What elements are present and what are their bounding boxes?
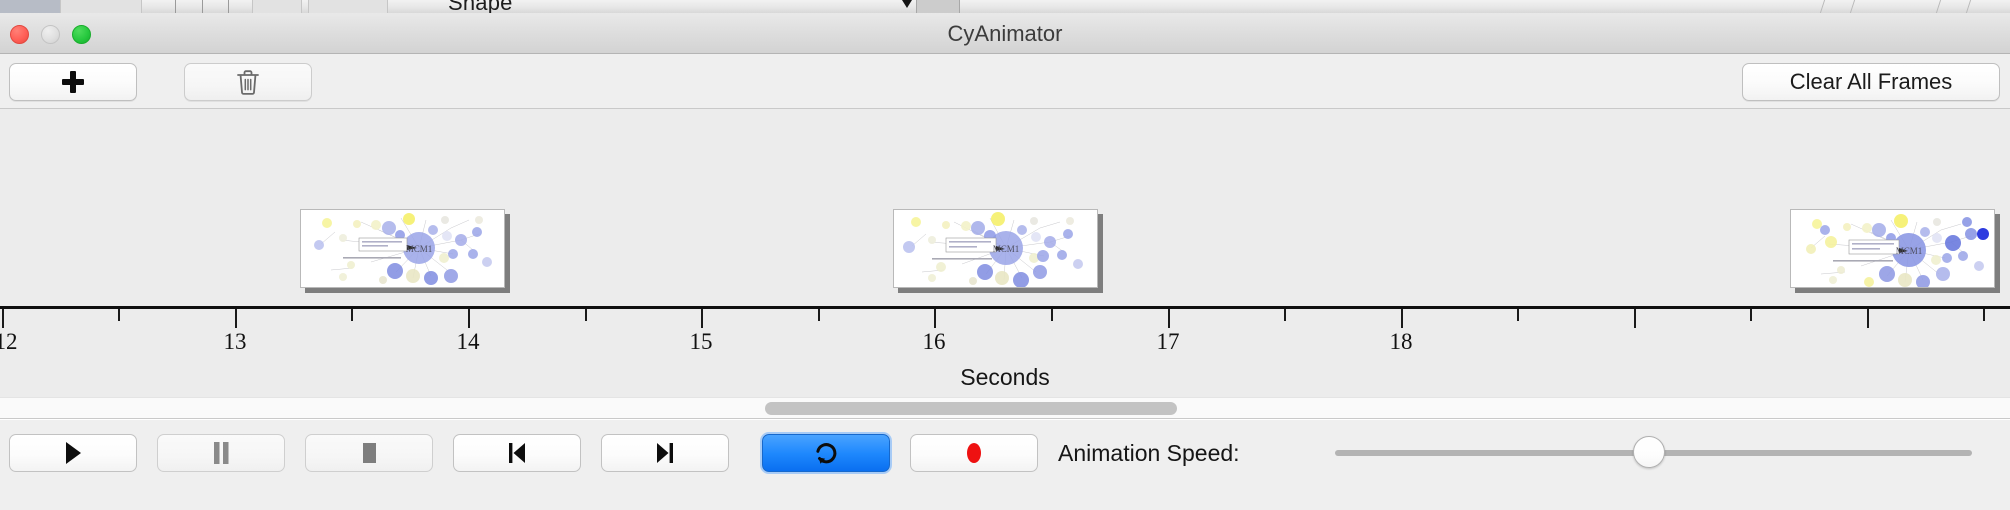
axis-tick-major [235,309,237,328]
play-icon [62,440,84,466]
skip-end-icon [652,440,678,466]
axis-tick-minor [585,309,587,321]
trash-icon [235,68,261,96]
bg-slash [1936,0,1941,13]
network-graph-thumbnail: MCM1 [1791,210,1994,287]
timeline-frame[interactable]: MCM1 [1790,209,2000,291]
timeline-frame[interactable]: MCM1 [300,209,510,291]
timeline-panel[interactable]: MCM1 [0,109,2010,419]
axis-tick-minor [1284,309,1286,321]
bg-panel [60,0,142,13]
network-graph-thumbnail: MCM1 [894,210,1097,287]
skip-end-button[interactable] [601,434,729,472]
plus-icon [62,71,84,93]
toolbar: Clear All Frames [0,54,2010,109]
record-button[interactable] [910,434,1038,472]
cyanimator-window: Shape CyAnimator Clear A [0,0,2010,510]
axis-tick-major [1634,309,1636,328]
frame-thumbnail: MCM1 [893,209,1098,288]
axis-title: Seconds [0,364,2010,391]
bg-scroll-thumb [916,0,960,13]
clear-all-frames-button[interactable]: Clear All Frames [1742,63,2000,101]
svg-text:MCM1: MCM1 [993,244,1020,254]
bg-tick [175,0,176,13]
loop-icon [813,439,839,467]
scrollbar-thumb[interactable] [765,402,1177,415]
maximize-button[interactable] [72,25,91,44]
axis-tick-major [1867,309,1869,328]
close-button[interactable] [10,25,29,44]
axis-tick-major [2,309,4,328]
pause-button[interactable] [157,434,285,472]
timeline-frame[interactable]: MCM1 [893,209,1103,291]
axis-tick-minor [118,309,120,321]
bg-slash [1820,0,1825,13]
bg-panel [308,0,388,13]
timeline-horizontal-scrollbar[interactable] [0,397,2010,418]
background-app-strip: Shape [0,0,2010,13]
bg-panel [252,0,302,13]
bg-block [0,0,60,13]
animation-speed-label: Animation Speed: [1058,434,1240,472]
svg-text:MCM1: MCM1 [406,244,433,254]
axis-tick-major [934,309,936,328]
axis-tick-minor [1983,309,1985,321]
minimize-button[interactable] [41,25,60,44]
svg-text:MCM1: MCM1 [1896,246,1923,256]
axis-tick-label: 13 [224,329,247,355]
timeline-axis-line [0,306,2010,309]
skip-start-button[interactable] [453,434,581,472]
axis-tick-minor [1051,309,1053,321]
axis-tick-label: 15 [690,329,713,355]
axis-tick-label: 14 [457,329,480,355]
bg-caret-icon [902,0,912,8]
record-icon [961,440,987,466]
axis-tick-label: 17 [1157,329,1180,355]
network-graph-thumbnail: MCM1 [301,210,504,287]
bg-shape-label: Shape [448,0,513,13]
frame-thumbnail: MCM1 [300,209,505,288]
bg-slash [1966,0,1971,13]
frame-thumbnail: MCM1 [1790,209,1995,288]
delete-frame-button[interactable] [184,63,312,101]
slider-thumb[interactable] [1633,436,1665,468]
axis-tick-major [1168,309,1170,328]
animation-speed-slider[interactable] [1335,450,1972,456]
stop-button[interactable] [305,434,433,472]
pause-icon [210,440,232,466]
clear-all-frames-label: Clear All Frames [1790,69,1953,95]
axis-tick-minor [1750,309,1752,321]
axis-tick-major [701,309,703,328]
add-frame-button[interactable] [9,63,137,101]
loop-button[interactable] [762,434,890,472]
bg-slash [1850,0,1855,13]
title-bar: CyAnimator [0,13,2010,54]
axis-tick-minor [351,309,353,321]
bg-tick [228,0,229,13]
axis-tick-minor [1517,309,1519,321]
playback-control-bar: Animation Speed: [0,420,2010,510]
skip-start-icon [504,440,530,466]
axis-tick-major [468,309,470,328]
axis-tick-major [1401,309,1403,328]
window-controls [10,25,91,44]
stop-icon [358,440,380,466]
axis-tick-label: 18 [1390,329,1413,355]
axis-tick-label: 12 [0,329,18,355]
play-button[interactable] [9,434,137,472]
axis-tick-label: 16 [923,329,946,355]
axis-tick-minor [818,309,820,321]
bg-tick [202,0,203,13]
window-title: CyAnimator [0,13,2010,54]
